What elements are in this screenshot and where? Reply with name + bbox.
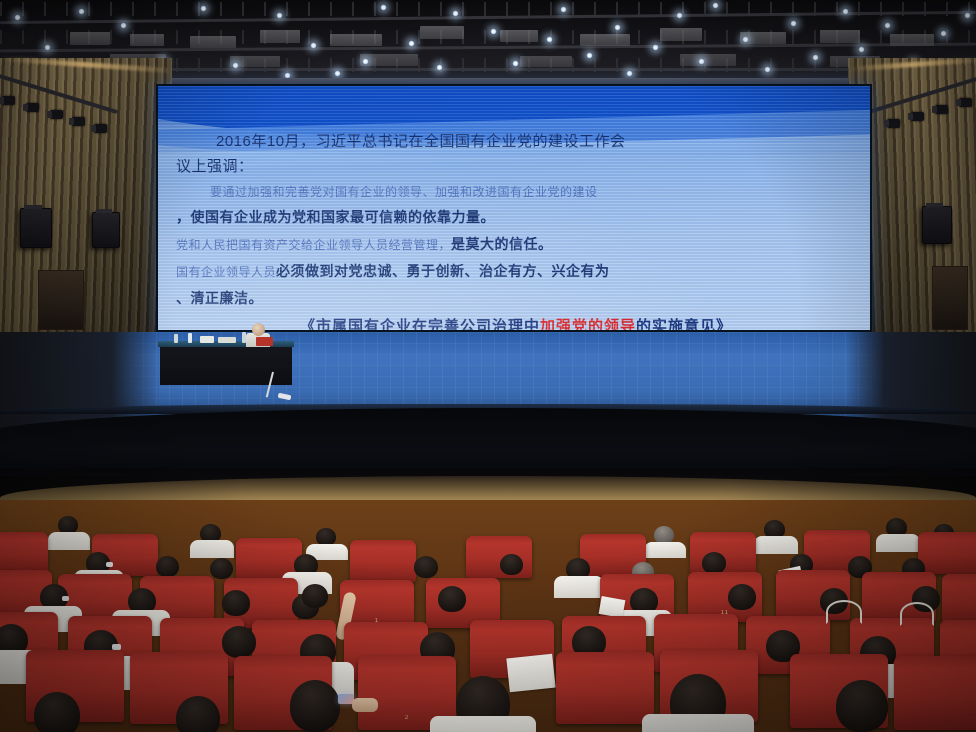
presenter-folder (256, 337, 273, 346)
slide-text-bold: 必须做到 (276, 263, 334, 279)
ceiling-spotlight (380, 4, 387, 11)
left-wall-speaker (92, 212, 120, 248)
ceiling-spotlight (362, 58, 369, 65)
audience-shirt (48, 532, 90, 550)
ceiling-spotlight (334, 70, 341, 77)
ceiling-spotlight (78, 8, 85, 15)
face-mask (106, 562, 113, 567)
ceiling-spotlight (652, 44, 659, 51)
ceiling-spotlight (512, 60, 519, 67)
presenter-head (252, 323, 265, 336)
seat[interactable] (942, 574, 976, 624)
audience-shirt (644, 542, 686, 558)
audience-head (290, 680, 340, 732)
ceiling-spotlight (310, 42, 317, 49)
ceiling-spotlight (14, 14, 21, 21)
stage-lamp (935, 105, 948, 114)
audience-head (302, 584, 328, 608)
footer-title-highlight: 加强党的领导 (540, 318, 636, 330)
audience-shirt (190, 540, 234, 558)
stage-lamp (911, 112, 924, 121)
water-bottle (188, 333, 192, 343)
slide-text-bold: 、 (176, 290, 191, 306)
slide-content: 2016年10月，习近平总书记在全国国有企业党的建设工作会 议上强调： 要通过加… (158, 130, 870, 330)
stage-lamp (887, 119, 900, 128)
audience-head (222, 590, 250, 616)
water-bottle (174, 334, 178, 343)
audience-head (414, 556, 438, 578)
name-card (200, 336, 214, 343)
left-stage-doorway (38, 270, 84, 330)
presentation-slide: 2016年10月，习近平总书记在全国国有企业党的建设工作会 议上强调： 要通过加… (158, 86, 870, 330)
seat[interactable] (918, 532, 976, 574)
handout-paper (506, 654, 555, 693)
led-screen: 2016年10月，习近平总书记在全国国有企业党的建设工作会 议上强调： 要通过加… (156, 84, 872, 332)
audience-head (176, 696, 220, 732)
slide-footer-title: 《市属国有企业在完善公司治理中加强党的领导的实施意见》 (176, 315, 856, 330)
ceiling-spotlight (764, 66, 771, 73)
seat[interactable] (350, 540, 416, 582)
slide-text-bold: 、勇于创新、治企有方、兴企有为 (392, 263, 610, 279)
ceiling-spotlight (884, 22, 891, 29)
audience-head (836, 680, 888, 732)
audience-head (222, 626, 256, 658)
slide-text-dim: 要通过加强和完善党对国有企业的领导、加强和改进国有企业党的建设 (210, 185, 598, 199)
audience-shirt (876, 534, 920, 552)
hand-holding-phone (352, 698, 378, 712)
audience-area: 1 11 4 (0, 500, 976, 732)
slide-text-highlight-red: 对党忠诚 (334, 263, 392, 279)
stage-lamp (2, 96, 15, 105)
stage-lamp (94, 124, 107, 133)
ceiling-spotlight (626, 70, 633, 77)
ceiling-spotlight (790, 20, 797, 27)
slide-body-line-1: 要通过加强和完善党对国有企业的领导、加强和改进国有企业党的建设 (176, 183, 856, 200)
ceiling-spotlight (614, 24, 621, 31)
slide-body-line-4: 国有企业领导人员必须做到对党忠诚、勇于创新、治企有方、兴企有为 (176, 261, 856, 281)
right-stage-doorway (932, 266, 968, 330)
slide-text-dim: 党和人民把国有资产交给企业领导人员经营管理， (176, 238, 451, 252)
ceiling-spotlight (200, 5, 207, 12)
slide-text-bold: 是莫大的信任。 (451, 236, 553, 252)
seat[interactable] (556, 652, 654, 724)
ceiling-spotlight (676, 12, 683, 19)
audience-head (34, 692, 80, 732)
seat[interactable] (466, 536, 532, 578)
audience-shirt (430, 716, 536, 732)
slide-text-dim: 国有企业领导人员 (176, 265, 276, 279)
audience-shirt (642, 714, 754, 732)
stage-lamp (72, 117, 85, 126)
stage-lamp (26, 103, 39, 112)
ceiling-spotlight (232, 62, 239, 69)
tote-bag (826, 600, 862, 624)
ceiling-spotlight (812, 54, 819, 61)
left-wall-speaker (20, 208, 52, 248)
audience-head (438, 586, 466, 612)
slide-text-highlight-red: 清正廉洁。 (191, 290, 264, 306)
stage-lamp (50, 110, 63, 119)
slide-text-bold: ，使国有企业成为党和国家最可信赖的依靠力量。 (176, 209, 495, 225)
auditorium-photo: 2016年10月，习近平总书记在全国国有企业党的建设工作会 议上强调： 要通过加… (0, 0, 976, 732)
stage-lamp (959, 98, 972, 107)
audience-shirt (754, 536, 798, 554)
slide-body-line-2: ，使国有企业成为党和国家最可信赖的依靠力量。 (176, 207, 856, 227)
handout-paper (599, 596, 626, 618)
ceiling-spotlight (452, 10, 459, 17)
slide-heading-line-2: 议上强调： (176, 155, 856, 176)
audience-head (702, 552, 726, 574)
slide-body-line-3: 党和人民把国有资产交给企业领导人员经营管理，是莫大的信任。 (176, 234, 856, 254)
ceiling-spotlight (436, 64, 443, 71)
ceiling-spotlight (44, 44, 51, 51)
right-wall-speaker (922, 206, 952, 244)
footer-title-prefix: 《市属国有企业在完善公司治理中 (300, 318, 540, 330)
tote-bag (900, 602, 934, 626)
audience-head (500, 554, 523, 575)
ceiling-spotlight (546, 36, 553, 43)
seat[interactable] (894, 656, 976, 730)
ceiling-spotlight (712, 2, 719, 9)
ceiling-spotlight (940, 30, 947, 37)
slide-body-line-5: 、清正廉洁。 (176, 288, 856, 308)
ceiling-spotlight (742, 36, 749, 43)
ceiling-spotlight (964, 12, 971, 19)
ceiling-spotlight (490, 28, 497, 35)
ceiling-spotlight (842, 8, 849, 15)
ceiling-spotlight (408, 40, 415, 47)
slide-heading-line-1: 2016年10月，习近平总书记在全国国有企业党的建设工作会 (176, 130, 856, 151)
audience-head (156, 556, 179, 577)
seat-number: 2 (405, 715, 409, 721)
ceiling-spotlight (698, 58, 705, 65)
audience-head (210, 558, 233, 579)
ceiling-spotlight (276, 12, 283, 19)
face-mask (62, 596, 69, 601)
document-stack (218, 337, 236, 343)
audience-shirt (554, 576, 604, 598)
footer-title-suffix: 的实施意见》 (636, 318, 732, 330)
ceiling-spotlight (586, 52, 593, 59)
audience-head (728, 584, 756, 610)
seat[interactable] (0, 532, 48, 574)
ceiling-spotlight (120, 22, 127, 29)
ceiling-spotlight (560, 6, 567, 13)
ceiling-spotlight (858, 46, 865, 53)
